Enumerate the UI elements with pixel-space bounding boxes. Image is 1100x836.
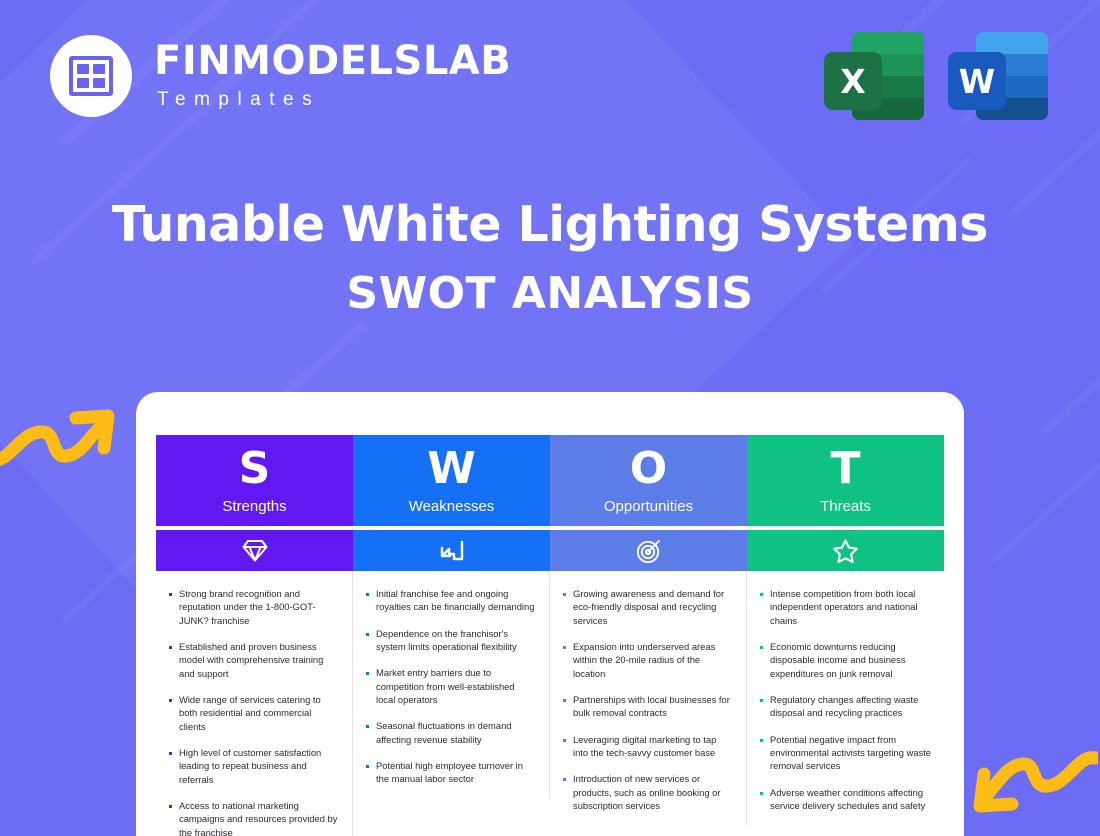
swot-header-weaknesses[interactable]: W Weaknesses xyxy=(353,435,550,526)
swot-label: Strengths xyxy=(222,498,286,515)
swot-items-threats: Intense competition from both local inde… xyxy=(747,571,944,825)
bullet-marker xyxy=(760,593,763,596)
bullet-marker xyxy=(760,699,763,702)
list-item: Intense competition from both local inde… xyxy=(760,587,931,627)
list-item: Seasonal fluctuations in demand affectin… xyxy=(366,719,536,746)
swot-label: Weaknesses xyxy=(409,498,495,515)
list-item: Dependence on the franchisor's system li… xyxy=(366,627,536,654)
bullet-marker xyxy=(169,805,172,808)
list-item: Introduction of new services or products… xyxy=(563,772,733,812)
swot-column-weaknesses: W Weaknesses Initial franchise fee and o… xyxy=(353,435,550,836)
list-item: Market entry barriers due to competition… xyxy=(366,666,536,706)
brand-logo: FINMODELSLAB Templates xyxy=(50,35,511,117)
swot-letter: O xyxy=(630,447,667,491)
bullet-marker xyxy=(366,725,369,728)
target-arrow-icon xyxy=(550,530,747,571)
swot-items-opportunities: Growing awareness and demand for eco-fri… xyxy=(550,571,747,825)
brand-name: FINMODELSLAB xyxy=(154,41,511,81)
list-item: Adverse weather conditions affecting ser… xyxy=(760,786,931,813)
format-badges: X W xyxy=(824,26,1048,126)
bullet-marker xyxy=(563,699,566,702)
list-item: Leveraging digital marketing to tap into… xyxy=(563,733,733,760)
list-item: Initial franchise fee and ongoing royalt… xyxy=(366,587,536,614)
swot-label: Opportunities xyxy=(604,498,693,515)
bullet-marker xyxy=(760,792,763,795)
squiggly-arrow-up-right-icon xyxy=(0,398,123,478)
page-title: Tunable White Lighting Systems xyxy=(0,196,1100,254)
list-item: Potential high employee turnover in the … xyxy=(366,759,536,786)
page-subtitle: SWOT ANALYSIS xyxy=(0,268,1100,319)
list-item: High level of customer satisfaction lead… xyxy=(169,746,339,786)
swot-items-strengths: Strong brand recognition and reputation … xyxy=(156,571,353,836)
bullet-marker xyxy=(169,646,172,649)
title-block: Tunable White Lighting Systems SWOT ANAL… xyxy=(0,196,1100,319)
list-item: Partnerships with local businesses for b… xyxy=(563,693,733,720)
bullet-marker xyxy=(760,739,763,742)
swot-grid: S Strengths Strong brand recognition and… xyxy=(156,435,944,836)
bullet-marker xyxy=(366,593,369,596)
bullet-marker xyxy=(169,699,172,702)
bullet-marker xyxy=(760,646,763,649)
swot-items-weaknesses: Initial franchise fee and ongoing royalt… xyxy=(353,571,550,799)
bullet-marker xyxy=(169,593,172,596)
bullet-marker xyxy=(563,646,566,649)
swot-header-opportunities[interactable]: O Opportunities xyxy=(550,435,747,526)
list-item: Access to national marketing campaigns a… xyxy=(169,799,339,836)
list-item: Established and proven business model wi… xyxy=(169,640,339,680)
squiggly-arrow-down-left-icon xyxy=(966,750,1098,830)
list-item: Growing awareness and demand for eco-fri… xyxy=(563,587,733,627)
grid-logo-icon xyxy=(50,35,132,117)
brand-subtitle: Templates xyxy=(154,89,511,111)
word-file-icon: W xyxy=(948,26,1048,126)
bullet-marker xyxy=(169,752,172,755)
descending-stairs-arrow-icon xyxy=(353,530,550,571)
bullet-marker xyxy=(563,593,566,596)
page-header: FINMODELSLAB Templates X W xyxy=(0,0,1100,150)
excel-file-icon: X xyxy=(824,26,924,126)
list-item: Expansion into underserved areas within … xyxy=(563,640,733,680)
bullet-marker xyxy=(563,739,566,742)
diamond-gem-icon xyxy=(156,530,353,571)
list-item: Potential negative impact from environme… xyxy=(760,733,931,773)
swot-column-opportunities: O Opportunities Growing awareness and de… xyxy=(550,435,747,836)
list-item: Economic downturns reducing disposable i… xyxy=(760,640,931,680)
swot-column-strengths: S Strengths Strong brand recognition and… xyxy=(156,435,353,836)
swot-card: S Strengths Strong brand recognition and… xyxy=(136,392,964,836)
swot-letter: W xyxy=(427,447,476,491)
bullet-marker xyxy=(366,765,369,768)
swot-header-strengths[interactable]: S Strengths xyxy=(156,435,353,526)
bullet-marker xyxy=(366,672,369,675)
swot-letter: T xyxy=(830,447,860,491)
swot-header-threats[interactable]: T Threats xyxy=(747,435,944,526)
bullet-marker xyxy=(366,633,369,636)
swot-label: Threats xyxy=(820,498,871,515)
list-item: Regulatory changes affecting waste dispo… xyxy=(760,693,931,720)
swot-column-threats: T Threats Intense competition from both … xyxy=(747,435,944,836)
list-item: Wide range of services catering to both … xyxy=(169,693,339,733)
swot-letter: S xyxy=(239,447,271,491)
word-badge-letter: W xyxy=(948,52,1006,110)
list-item: Strong brand recognition and reputation … xyxy=(169,587,339,627)
bullet-marker xyxy=(563,778,566,781)
star-outline-icon xyxy=(747,530,944,571)
excel-badge-letter: X xyxy=(824,52,882,110)
